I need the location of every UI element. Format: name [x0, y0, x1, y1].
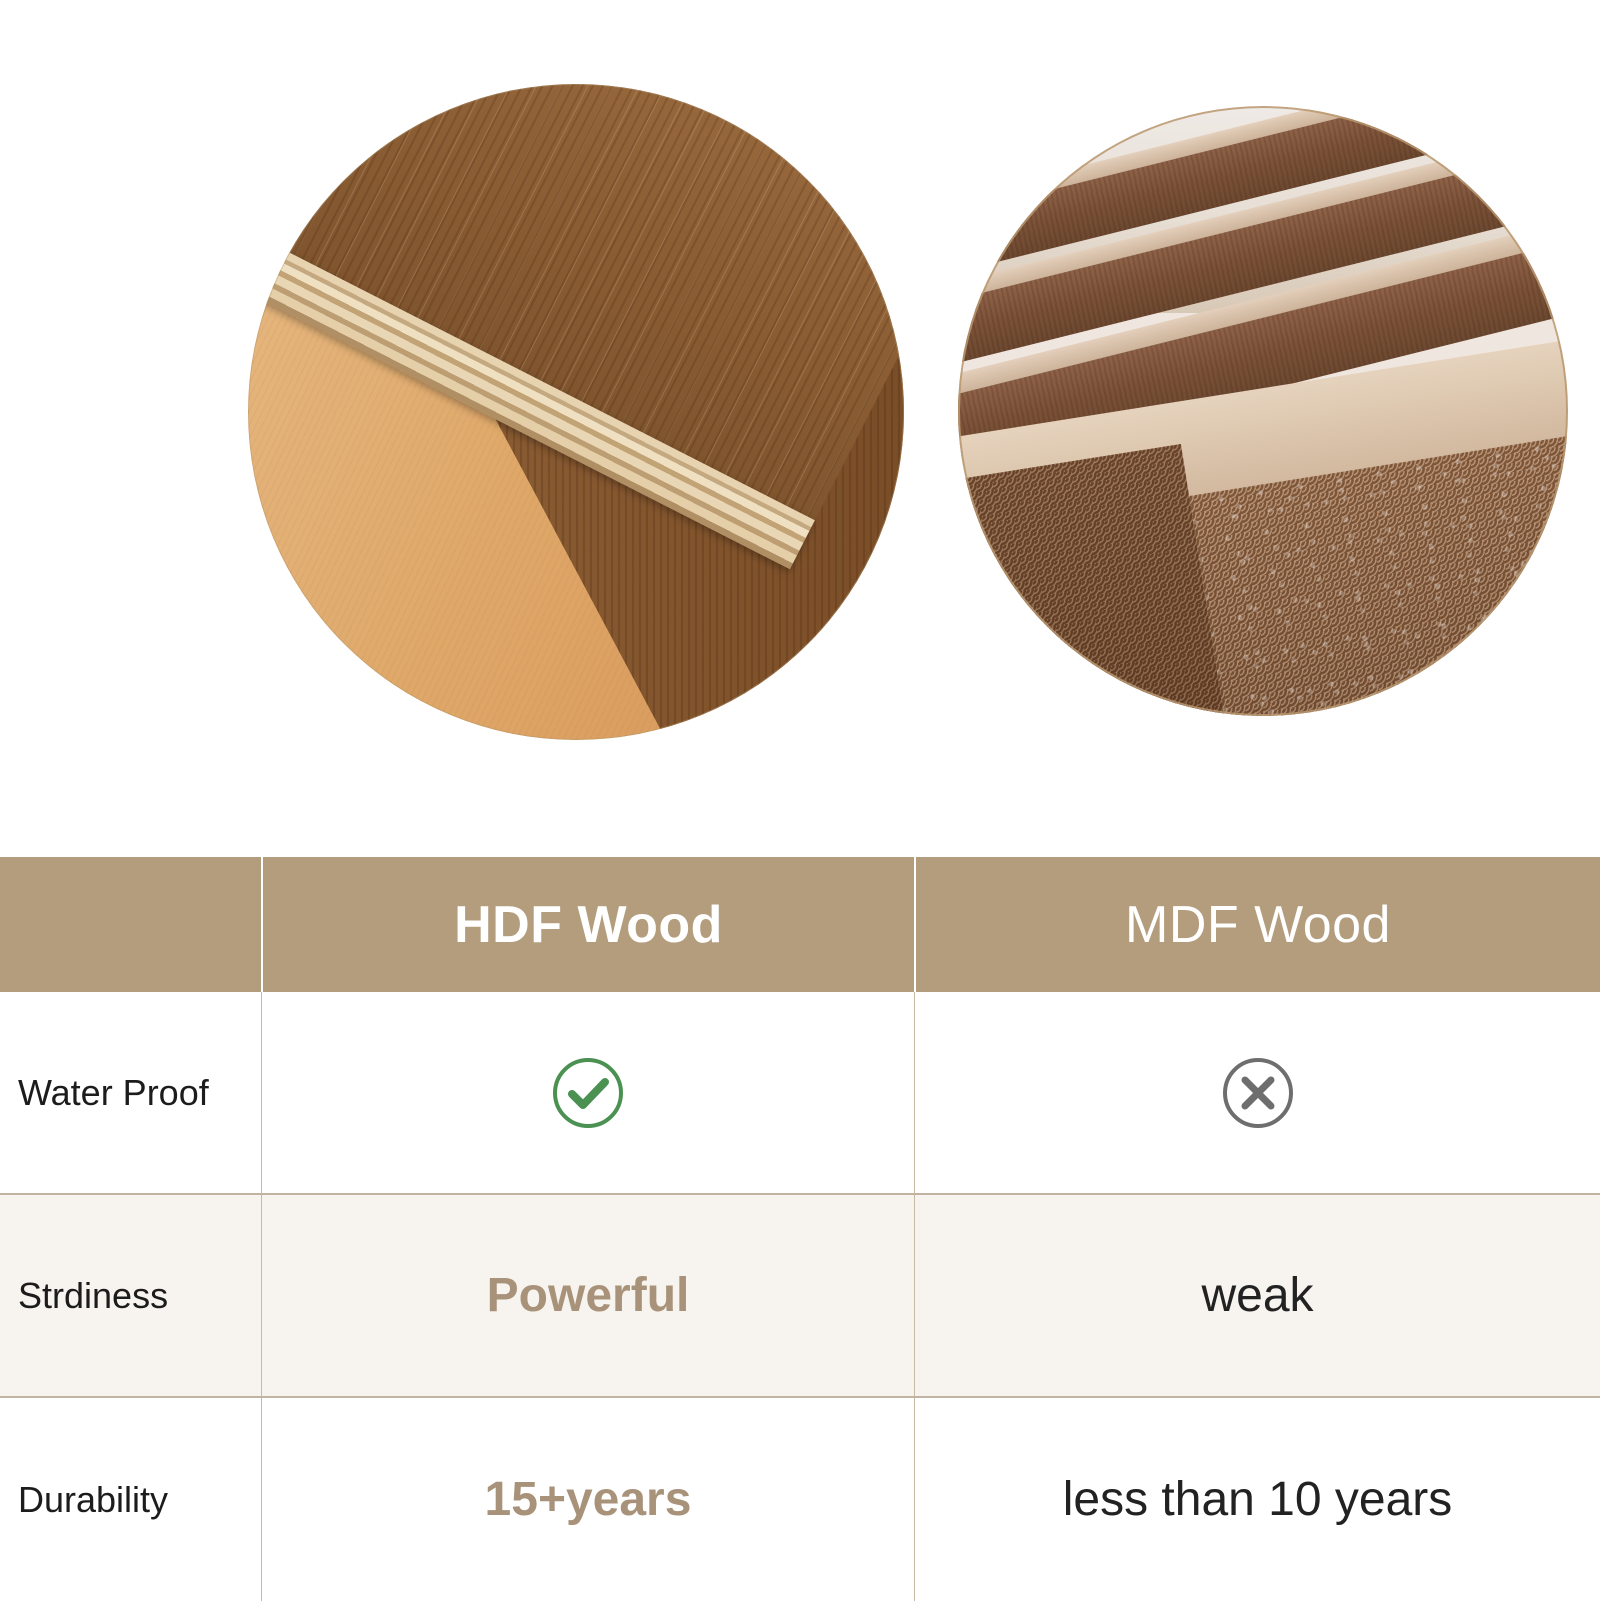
header-mdf-cell: MDF Wood [914, 857, 1600, 992]
check-circle-icon [550, 1055, 626, 1131]
table-row: Strdiness Powerful weak [0, 1195, 1600, 1396]
table-row: Durability 15+years less than 10 years [0, 1398, 1600, 1601]
mdf-photo-art [958, 106, 1568, 716]
row-mdf-cell: weak [914, 1195, 1600, 1396]
hdf-photo-art [248, 84, 904, 740]
row-hdf-value: Powerful [487, 1268, 690, 1323]
row-mdf-value: less than 10 years [1063, 1472, 1453, 1527]
row-hdf-cell [261, 992, 914, 1193]
header-hdf-cell: HDF Wood [261, 857, 914, 992]
row-label-text: Water Proof [18, 1072, 209, 1114]
row-label-cell: Water Proof [0, 992, 261, 1193]
cross-circle-icon [1220, 1055, 1296, 1131]
comparison-table: HDF Wood MDF Wood Water Proof [0, 857, 1600, 1600]
table-header-row: HDF Wood MDF Wood [0, 857, 1600, 992]
row-mdf-cell: less than 10 years [914, 1398, 1600, 1601]
hdf-plywood-photo [248, 84, 904, 740]
header-hdf-text: HDF Wood [454, 895, 723, 955]
row-label-text: Durability [18, 1479, 168, 1521]
row-label-cell: Strdiness [0, 1195, 261, 1396]
row-label-cell: Durability [0, 1398, 261, 1601]
row-mdf-value: weak [1201, 1268, 1313, 1323]
row-hdf-value: 15+years [485, 1472, 692, 1527]
row-mdf-cell [914, 992, 1600, 1193]
row-hdf-cell: 15+years [261, 1398, 914, 1601]
header-mdf-text: MDF Wood [1125, 895, 1391, 955]
row-label-text: Strdiness [18, 1275, 168, 1317]
mdf-board-photo [958, 106, 1568, 716]
hero-image-area [0, 0, 1600, 857]
table-row: Water Proof [0, 992, 1600, 1193]
header-label-cell [0, 857, 261, 992]
mdf-left-core-block [958, 444, 1226, 716]
row-hdf-cell: Powerful [261, 1195, 914, 1396]
